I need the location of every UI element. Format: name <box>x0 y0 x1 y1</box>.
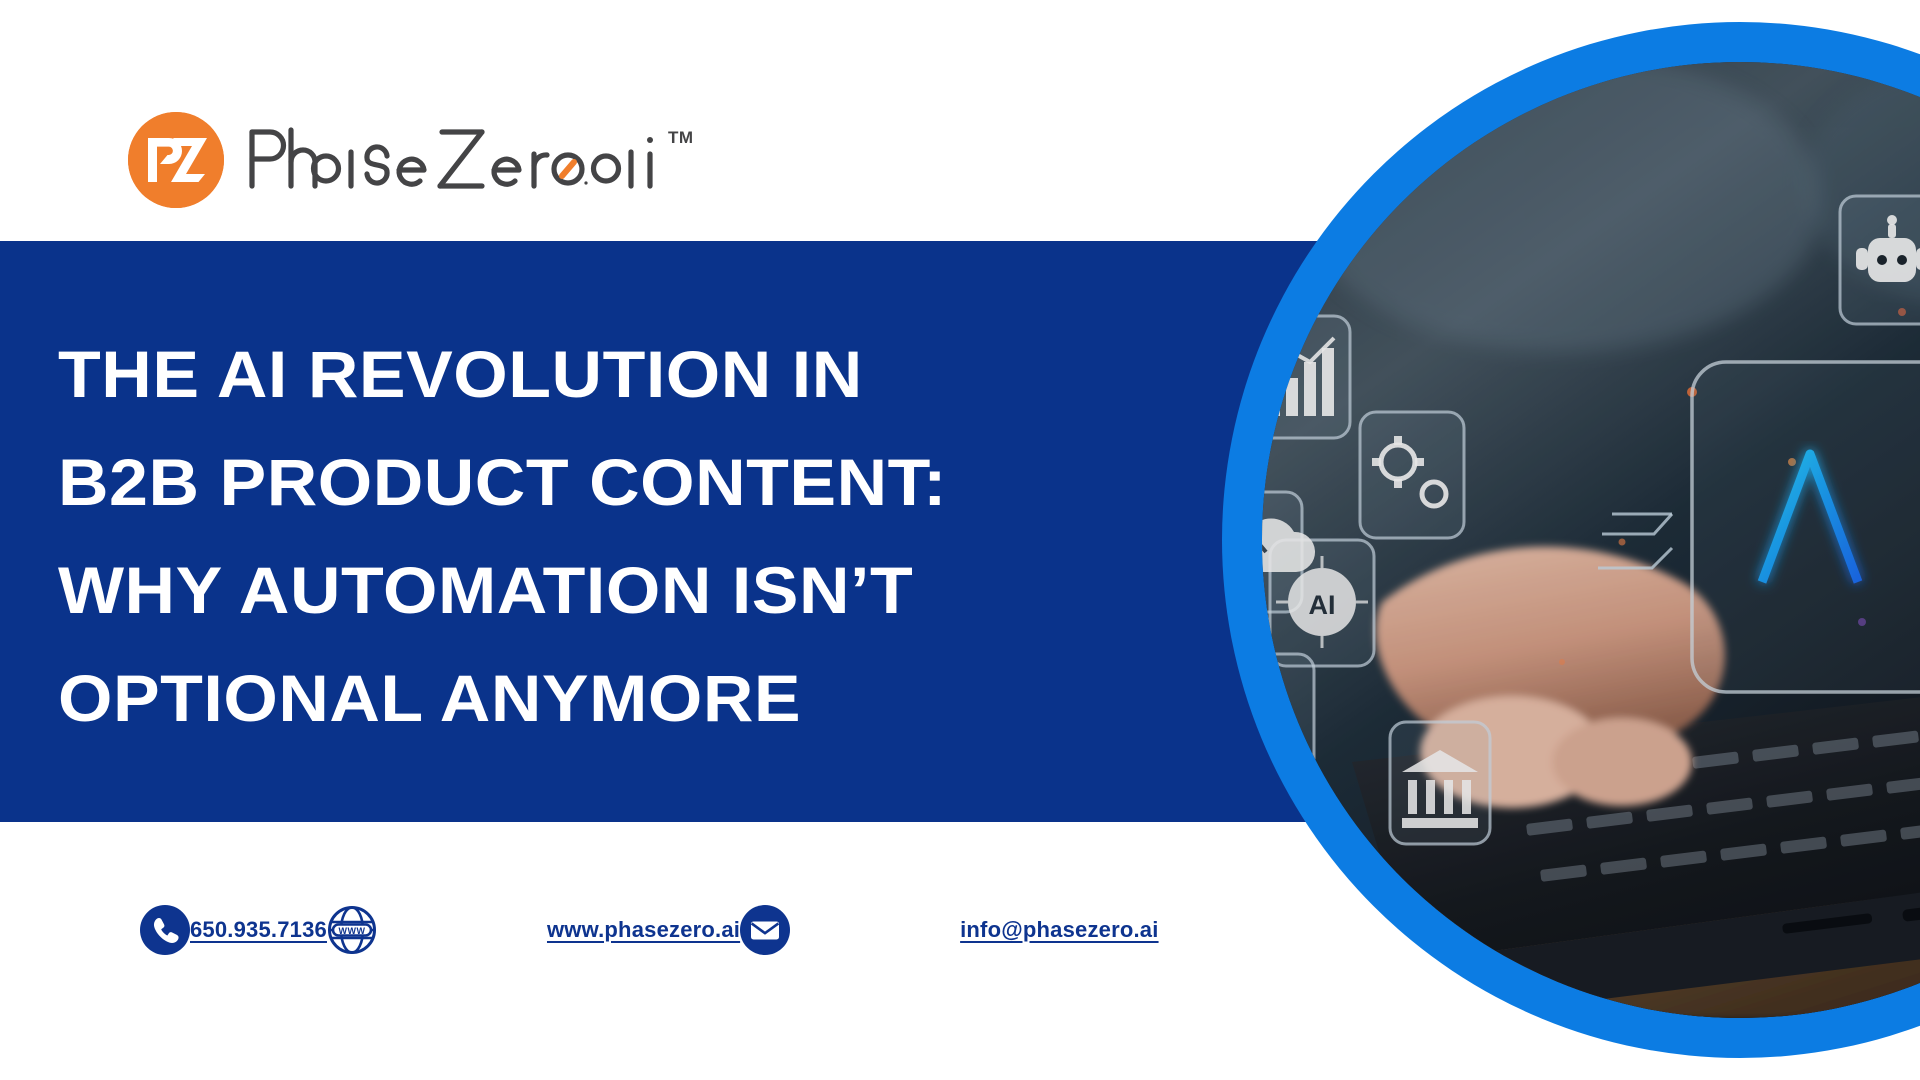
contact-bar: 650.935.7136 WWW www.phasezero.ai info@p… <box>140 895 1240 965</box>
banner-canvas: TM <box>0 0 1920 1080</box>
gears-icon <box>1381 445 1446 506</box>
globe-www-text: WWW <box>338 926 365 936</box>
hero-photo: AI <box>1262 62 1920 1018</box>
contact-website[interactable]: WWW www.phasezero.ai <box>327 895 740 965</box>
contact-email[interactable]: info@phasezero.ai <box>740 895 1158 965</box>
contact-phone[interactable]: 650.935.7136 <box>140 895 327 965</box>
gears-teeth <box>1372 436 1424 488</box>
globe-www-icon: WWW <box>327 905 377 955</box>
brand-logo[interactable]: TM <box>128 112 694 208</box>
bank-institution-icon <box>1402 750 1478 828</box>
page-title: THE AI REVOLUTION IN B2B PRODUCT CONTENT… <box>58 320 1245 752</box>
title-line-3: WHY AUTOMATION ISN’T <box>58 536 1245 644</box>
pz-monogram-icon <box>128 112 224 208</box>
phone-icon <box>140 905 190 955</box>
title-line-1: THE AI REVOLUTION IN <box>58 320 1245 428</box>
contact-website-label[interactable]: www.phasezero.ai <box>547 917 740 943</box>
hero-photo-mask: AI <box>1262 62 1920 1018</box>
robot-icon <box>1856 215 1920 282</box>
envelope-icon <box>740 905 790 955</box>
hologram-panel <box>1598 362 1920 692</box>
trademark-symbol: TM <box>668 128 694 148</box>
brand-wordmark: TM <box>246 124 694 196</box>
contact-email-label[interactable]: info@phasezero.ai <box>960 917 1158 943</box>
contact-phone-label[interactable]: 650.935.7136 <box>190 917 327 943</box>
title-line-4: OPTIONAL ANYMORE <box>58 644 1245 752</box>
title-line-2: B2B PRODUCT CONTENT: <box>58 428 1245 536</box>
